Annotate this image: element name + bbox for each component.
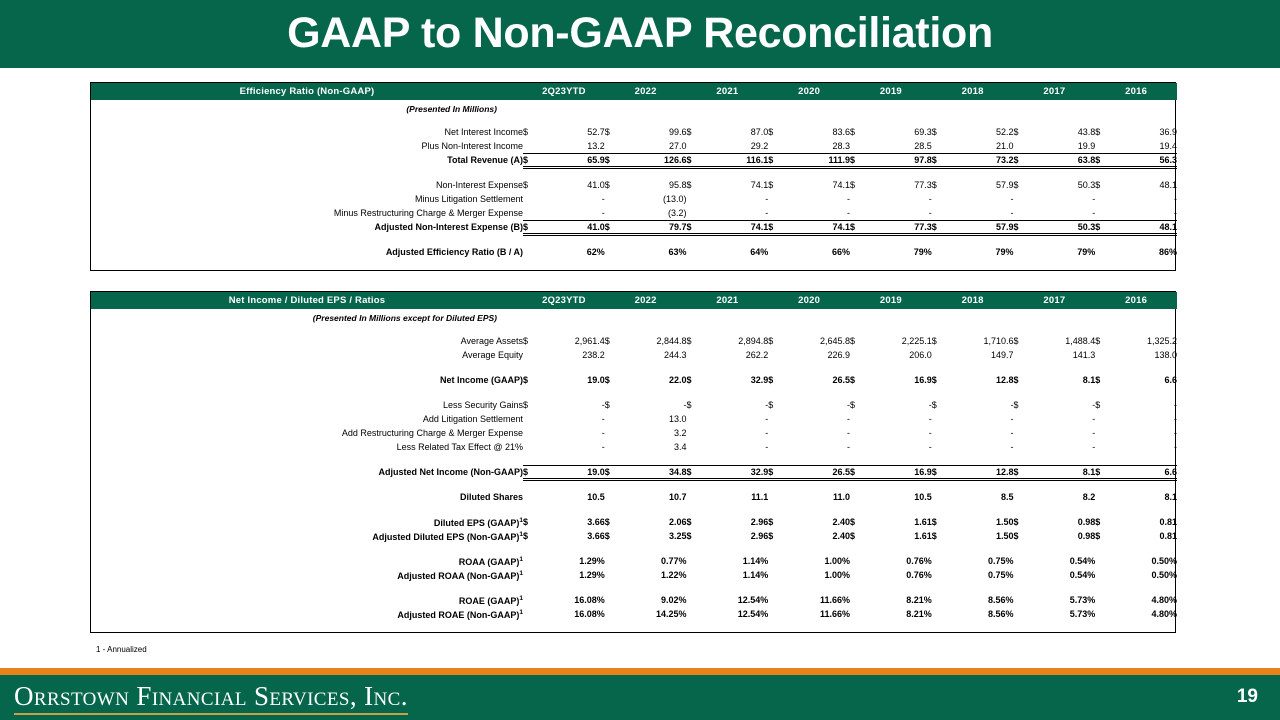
cell-value: - [1036,426,1096,440]
cell-value: 10.5 [872,490,932,504]
currency-symbol: $ [687,125,709,139]
cell-value: - [790,206,850,220]
currency-symbol [1095,348,1117,362]
currency-symbol [523,568,545,582]
table-row: ROAA (GAAP)11.29%0.77%1.14%1.00%0.76%0.7… [91,554,1177,568]
table-row: Diluted EPS (GAAP)1$3.66$2.06$2.96$2.40$… [91,515,1177,529]
currency-symbol: $ [1014,153,1036,167]
table-row: Diluted Shares10.510.711.111.010.58.58.2… [91,490,1177,504]
cell-value: 77.3 [872,220,932,234]
cell-value: - [1117,440,1177,454]
cell-value: 1.61 [872,529,932,543]
table-row: Minus Restructuring Charge & Merger Expe… [91,206,1177,220]
currency-symbol [687,554,709,568]
subtitle-filler [523,100,1177,114]
currency-symbol: $ [768,153,790,167]
currency-symbol [1095,440,1117,454]
cell-value: 2,961.4 [545,334,605,348]
currency-symbol [768,245,790,259]
currency-symbol: $ [932,373,954,387]
row-label: ROAE (GAAP)1 [91,593,523,607]
cell-value: 0.50% [1117,568,1177,582]
column-header: 2022 [605,292,687,309]
spacer-row [91,362,1177,373]
cell-value: - [709,412,769,426]
currency-symbol: $ [1095,125,1117,139]
currency-symbol [850,245,872,259]
cell-value: 87.0 [709,125,769,139]
column-header: 2016 [1095,292,1177,309]
currency-symbol [687,426,709,440]
cell-value: 13.0 [627,412,687,426]
cell-value: - [790,426,850,440]
currency-symbol [768,490,790,504]
table-title: Net Income / Diluted EPS / Ratios [91,292,523,309]
row-label: Adjusted Diluted EPS (Non-GAAP)1 [91,529,523,543]
currency-symbol [605,245,627,259]
currency-symbol: $ [1095,334,1117,348]
cell-value: 36.9 [1117,125,1177,139]
row-label: Less Security Gains [91,398,523,412]
cell-value: - [709,426,769,440]
table-row: Net Interest Income$52.7$99.6$87.0$83.6$… [91,125,1177,139]
cell-value: 138.0 [1117,348,1177,362]
currency-symbol [1095,607,1117,621]
currency-symbol [850,607,872,621]
page-number: 19 [1237,686,1258,708]
cell-value: 6.6 [1117,465,1177,479]
currency-symbol [768,440,790,454]
cell-value: 41.0 [545,220,605,234]
cell-value: 8.21% [872,593,932,607]
currency-symbol: $ [605,529,627,543]
currency-symbol: $ [932,334,954,348]
cell-value: 19.0 [545,465,605,479]
cell-value: 12.54% [709,607,769,621]
currency-symbol [932,490,954,504]
cell-value: 1.00% [790,554,850,568]
currency-symbol [687,593,709,607]
spacer-row [91,259,1177,270]
cell-value: - [1036,412,1096,426]
table-subtitle-row: (Presented In Millions except for Dilute… [91,309,1177,323]
column-header: 2021 [687,83,769,100]
currency-symbol: $ [768,220,790,234]
cell-value: - [1036,192,1096,206]
currency-symbol [1014,593,1036,607]
currency-symbol [523,245,545,259]
cell-value: 0.75% [954,554,1014,568]
cell-value: 16.9 [872,373,932,387]
cell-value: 63.8 [1036,153,1096,167]
currency-symbol [932,440,954,454]
cell-value: 1.50 [954,529,1014,543]
cell-value: 0.98 [1036,529,1096,543]
cell-value: 74.1 [790,178,850,192]
currency-symbol [1014,348,1036,362]
cell-value: 86% [1117,245,1177,259]
cell-value: 149.7 [954,348,1014,362]
cell-value: 0.77% [627,554,687,568]
currency-symbol: $ [605,373,627,387]
cell-value: 32.9 [709,373,769,387]
cell-value: (13.0) [627,192,687,206]
row-label: Net Interest Income [91,125,523,139]
table-subtitle: (Presented In Millions) [91,100,523,114]
currency-symbol [768,568,790,582]
cell-value: 63% [627,245,687,259]
cell-value: 1.14% [709,554,769,568]
cell-value: 2,225.1 [872,334,932,348]
currency-symbol [687,568,709,582]
currency-symbol: $ [932,153,954,167]
cell-value: - [1036,440,1096,454]
cell-value: 13.2 [545,139,605,153]
cell-value: 10.7 [627,490,687,504]
currency-symbol: $ [687,153,709,167]
currency-symbol [932,192,954,206]
cell-value: 52.7 [545,125,605,139]
spacer-row [91,323,1177,334]
cell-value: 1.61 [872,515,932,529]
cell-value: 8.1 [1036,465,1096,479]
cell-value: 2.96 [709,529,769,543]
currency-symbol: $ [1014,465,1036,479]
cell-value: 16.9 [872,465,932,479]
cell-value: 95.8 [627,178,687,192]
cell-value: - [709,206,769,220]
currency-symbol [1095,554,1117,568]
cell-value: 12.8 [954,465,1014,479]
cell-value: 8.1 [1117,490,1177,504]
currency-symbol: $ [1014,398,1036,412]
currency-symbol [768,554,790,568]
cell-value: 99.6 [627,125,687,139]
cell-value: 1.29% [545,568,605,582]
currency-symbol: $ [523,465,545,479]
currency-symbol: $ [768,334,790,348]
cell-value: 0.54% [1036,554,1096,568]
column-header: 2019 [850,83,932,100]
currency-symbol [605,206,627,220]
cell-value: 4.80% [1117,607,1177,621]
currency-symbol: $ [932,515,954,529]
cell-value: 2,645.8 [790,334,850,348]
cell-value: 0.81 [1117,515,1177,529]
cell-value: - [1036,398,1096,412]
cell-value: 0.54% [1036,568,1096,582]
currency-symbol [523,426,545,440]
cell-value: - [954,412,1014,426]
currency-symbol [1095,192,1117,206]
cell-value: - [790,412,850,426]
currency-symbol [932,554,954,568]
cell-value: 2.96 [709,515,769,529]
currency-symbol [1014,206,1036,220]
cell-value: - [1117,206,1177,220]
column-header: 2020 [768,83,850,100]
cell-value: - [954,426,1014,440]
column-header: 2016 [1095,83,1177,100]
currency-symbol: $ [523,529,545,543]
currency-symbol: $ [523,334,545,348]
cell-value: 12.54% [709,593,769,607]
spacer-row [91,454,1177,465]
currency-symbol [1095,206,1117,220]
currency-symbol: $ [687,465,709,479]
cell-value: - [545,440,605,454]
currency-symbol [1095,593,1117,607]
cell-value: 14.25% [627,607,687,621]
currency-symbol: $ [605,515,627,529]
currency-symbol [932,139,954,153]
currency-symbol: $ [1095,220,1117,234]
currency-symbol [850,412,872,426]
company-logo: Orrstown Financial Services, Inc. [14,681,408,715]
currency-symbol [850,426,872,440]
currency-symbol: $ [768,398,790,412]
currency-symbol [687,607,709,621]
cell-value: 29.2 [709,139,769,153]
cell-value: 226.9 [790,348,850,362]
currency-symbol [605,192,627,206]
row-label: Non-Interest Expense [91,178,523,192]
efficiency-ratio-table: Efficiency Ratio (Non-GAAP)2Q23YTD202220… [90,82,1176,271]
row-label: Adjusted Non-Interest Expense (B) [91,220,523,234]
currency-symbol [850,490,872,504]
spacer-row [91,387,1177,398]
currency-symbol [932,426,954,440]
row-label: Plus Non-Interest Income [91,139,523,153]
table-row: Non-Interest Expense$41.0$95.8$74.1$74.1… [91,178,1177,192]
cell-value: 48.1 [1117,220,1177,234]
row-label: Total Revenue (A) [91,153,523,167]
currency-symbol: $ [932,398,954,412]
currency-symbol [768,412,790,426]
table-subtitle: (Presented In Millions except for Dilute… [91,309,523,323]
subtitle-filler [523,309,1177,323]
cell-value: - [545,412,605,426]
cell-value: 64% [709,245,769,259]
currency-symbol [523,348,545,362]
cell-value: 56.3 [1117,153,1177,167]
cell-value: 3.4 [627,440,687,454]
cell-value: 83.6 [790,125,850,139]
table-row: Plus Non-Interest Income13.227.029.228.3… [91,139,1177,153]
currency-symbol: $ [605,220,627,234]
net-income-eps-ratios-table: Net Income / Diluted EPS / Ratios2Q23YTD… [90,291,1176,633]
currency-symbol [768,139,790,153]
currency-symbol [1014,554,1036,568]
cell-value: 66% [790,245,850,259]
cell-value: - [709,398,769,412]
cell-value: 1.29% [545,554,605,568]
currency-symbol: $ [768,125,790,139]
currency-symbol [1014,245,1036,259]
currency-symbol [605,554,627,568]
currency-symbol [523,607,545,621]
currency-symbol: $ [605,125,627,139]
row-label: ROAA (GAAP)1 [91,554,523,568]
currency-symbol [1014,412,1036,426]
currency-symbol: $ [1014,178,1036,192]
spacer-row [91,543,1177,554]
currency-symbol [850,206,872,220]
currency-symbol: $ [523,178,545,192]
cell-value: - [954,206,1014,220]
currency-symbol [932,206,954,220]
cell-value: 262.2 [709,348,769,362]
currency-symbol [687,412,709,426]
currency-symbol: $ [1014,529,1036,543]
currency-symbol: $ [1014,125,1036,139]
currency-symbol: $ [605,153,627,167]
table-row: Adjusted Non-Interest Expense (B)$41.0$7… [91,220,1177,234]
currency-symbol: $ [523,373,545,387]
currency-symbol [1014,192,1036,206]
currency-symbol: $ [932,529,954,543]
cell-value: 16.08% [545,607,605,621]
spacer-row [91,114,1177,125]
currency-symbol: $ [850,178,872,192]
cell-value: 8.1 [1036,373,1096,387]
currency-symbol [605,412,627,426]
currency-symbol: $ [687,220,709,234]
currency-symbol [523,593,545,607]
row-label: Minus Litigation Settlement [91,192,523,206]
currency-symbol [850,192,872,206]
cell-value: 0.76% [872,568,932,582]
efficiency-ratio-grid: Efficiency Ratio (Non-GAAP)2Q23YTD202220… [91,83,1177,270]
table-row: Less Security Gains$-$-$-$-$-$-$-$- [91,398,1177,412]
currency-symbol: $ [850,334,872,348]
currency-symbol: $ [1095,178,1117,192]
column-header: 2017 [1014,292,1096,309]
cell-value: 52.2 [954,125,1014,139]
currency-symbol: $ [850,398,872,412]
cell-value: - [1117,398,1177,412]
row-label: Average Assets [91,334,523,348]
cell-value: 34.8 [627,465,687,479]
cell-value: 79.7 [627,220,687,234]
currency-symbol: $ [687,398,709,412]
row-label: Diluted Shares [91,490,523,504]
currency-symbol: $ [605,178,627,192]
currency-symbol [687,139,709,153]
spacer-row [91,234,1177,245]
table-row: Minus Litigation Settlement-(13.0)------ [91,192,1177,206]
column-header: 2017 [1014,83,1096,100]
cell-value: 28.5 [872,139,932,153]
cell-value: 0.98 [1036,515,1096,529]
currency-symbol [1095,490,1117,504]
currency-symbol [1014,139,1036,153]
cell-value: 57.9 [954,220,1014,234]
currency-symbol [605,568,627,582]
cell-value: 50.3 [1036,178,1096,192]
currency-symbol [1095,139,1117,153]
table-row: ROAE (GAAP)116.08%9.02%12.54%11.66%8.21%… [91,593,1177,607]
row-label: Adjusted Efficiency Ratio (B / A) [91,245,523,259]
currency-symbol [850,568,872,582]
currency-symbol [1014,568,1036,582]
currency-symbol [850,440,872,454]
cell-value: 1.00% [790,568,850,582]
currency-symbol: $ [850,153,872,167]
cell-value: 0.75% [954,568,1014,582]
currency-symbol [1095,412,1117,426]
cell-value: 2.06 [627,515,687,529]
cell-value: 6.6 [1117,373,1177,387]
currency-symbol: $ [605,465,627,479]
currency-symbol [850,593,872,607]
column-header: 2020 [768,292,850,309]
currency-symbol [605,593,627,607]
currency-symbol [768,607,790,621]
cell-value: - [1036,206,1096,220]
currency-symbol: $ [850,529,872,543]
cell-value: 77.3 [872,178,932,192]
spacer-row [91,479,1177,490]
currency-symbol [605,490,627,504]
cell-value: 19.9 [1036,139,1096,153]
cell-value: 1.50 [954,515,1014,529]
currency-symbol: $ [605,334,627,348]
spacer-row [91,582,1177,593]
footer-accent-stripe [0,668,1280,675]
currency-symbol [605,348,627,362]
cell-value: - [1117,192,1177,206]
currency-symbol [1014,490,1036,504]
table-row: Less Related Tax Effect @ 21%-3.4------ [91,440,1177,454]
cell-value: - [1117,412,1177,426]
table-row: Add Litigation Settlement-13.0------ [91,412,1177,426]
cell-value: 1,710.6 [954,334,1014,348]
cell-value: - [545,206,605,220]
cell-value: 0.76% [872,554,932,568]
currency-symbol [1014,426,1036,440]
currency-symbol [523,139,545,153]
cell-value: 11.1 [709,490,769,504]
currency-symbol: $ [1095,373,1117,387]
cell-value: - [627,398,687,412]
currency-symbol [687,192,709,206]
currency-symbol: $ [1095,153,1117,167]
currency-symbol: $ [687,334,709,348]
row-label: Add Restructuring Charge & Merger Expens… [91,426,523,440]
table-row: Adjusted Diluted EPS (Non-GAAP)1$3.66$3.… [91,529,1177,543]
cell-value: 11.66% [790,607,850,621]
currency-symbol: $ [523,153,545,167]
table-row: Adjusted Net Income (Non-GAAP)$19.0$34.8… [91,465,1177,479]
cell-value: 19.0 [545,373,605,387]
cell-value: 126.6 [627,153,687,167]
cell-value: 79% [872,245,932,259]
currency-symbol: $ [1095,398,1117,412]
cell-value: 116.1 [709,153,769,167]
column-header: 2021 [687,292,769,309]
cell-value: 32.9 [709,465,769,479]
row-label: Adjusted ROAA (Non-GAAP)1 [91,568,523,582]
cell-value: 5.73% [1036,593,1096,607]
cell-value: 8.5 [954,490,1014,504]
currency-symbol [1014,607,1036,621]
cell-value: 69.3 [872,125,932,139]
cell-value: 111.9 [790,153,850,167]
cell-value: 57.9 [954,178,1014,192]
table-row: Adjusted ROAE (Non-GAAP)116.08%14.25%12.… [91,607,1177,621]
cell-value: 244.3 [627,348,687,362]
